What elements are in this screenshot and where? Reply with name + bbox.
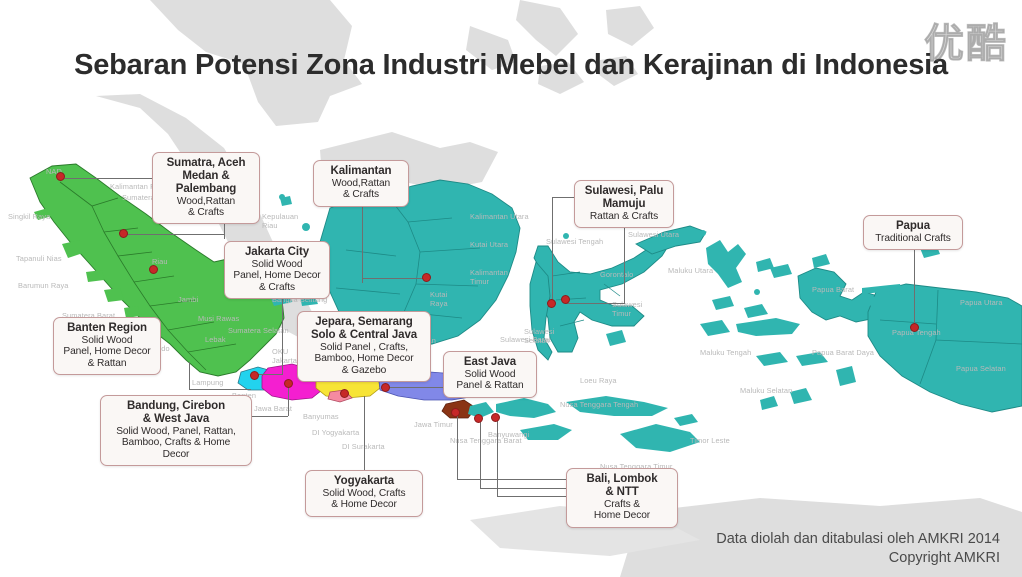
callout-jakarta[interactable]: Jakarta CitySolid WoodPanel, Home Decor&… <box>224 241 330 299</box>
footer-credit: Data diolah dan ditabulasi oleh AMKRI 20… <box>716 530 1000 569</box>
island-seram <box>736 318 800 336</box>
marker-surabaya-east-java[interactable] <box>381 383 390 392</box>
province-label: Lebak <box>205 335 226 344</box>
marker-palu[interactable] <box>561 295 570 304</box>
callout-detail-line: & Crafts <box>161 207 251 218</box>
island-halmahera[interactable] <box>706 240 746 288</box>
island-tanimbar <box>790 388 812 404</box>
province-label: OKU Jakarta <box>272 347 297 365</box>
leader-papua-v <box>914 250 915 328</box>
province-label: Timor Leste <box>690 436 730 445</box>
province-label: Sulawesi Selatan <box>524 327 554 345</box>
province-label: Kalimantan Utara <box>470 212 529 221</box>
province-label: Maluku Utara <box>668 266 713 275</box>
province-label: Papua Barat <box>812 285 854 294</box>
callout-papua[interactable]: PapuaTraditional Crafts <box>863 215 963 250</box>
callout-title-line: Banten Region <box>62 322 152 335</box>
province-label: Tapanuli Nias <box>16 254 62 263</box>
province-label: Jawa Barat <box>254 404 292 413</box>
leader-westjava-v <box>288 386 289 416</box>
callout-title-line: Mamuju <box>583 198 665 211</box>
callout-detail-line: & Crafts <box>322 189 400 200</box>
callout-title-line: Papua <box>872 220 954 233</box>
callout-title-line: Solo & Central Java <box>306 329 422 342</box>
callout-detail-line: Solid Wood <box>62 335 152 346</box>
leader-banten-v <box>189 362 190 390</box>
island-kei <box>760 396 778 410</box>
leader-bali-v2 <box>480 420 481 489</box>
callout-detail-line: Rattan & Crafts <box>583 211 665 222</box>
leader-bali-h3 <box>497 496 566 497</box>
province-label: Maluku Selatan <box>740 386 792 395</box>
callout-detail-line: & Home Decor <box>314 499 414 510</box>
callout-detail-line: & Rattan <box>62 358 152 369</box>
leader-bali-h2 <box>480 488 566 489</box>
callout-bali-ntt[interactable]: Bali, Lombok& NTTCrafts &Home Decor <box>566 468 678 528</box>
province-label: Barumun Raya <box>18 281 69 290</box>
callout-title-line: Bandung, Cirebon <box>109 400 243 413</box>
leader-kalimantan-v <box>362 203 363 283</box>
leader-sumatra-h2 <box>124 234 224 235</box>
province-label: Jambi <box>178 295 198 304</box>
philippines-gray-2 <box>606 6 654 46</box>
callout-detail-line: Panel & Rattan <box>452 380 528 391</box>
province-label: Kepulauan Riau <box>262 212 298 230</box>
infographic-map-slide: NADSingkil RayaTapanuli NiasBarumun Raya… <box>0 0 1022 577</box>
leader-yogyakarta-v <box>364 396 365 470</box>
province-label: Gorontalo <box>600 270 633 279</box>
marker-bandung-west-java[interactable] <box>284 379 293 388</box>
island-sumbawa[interactable] <box>496 398 556 418</box>
province-label: Kutai Utara <box>470 240 508 249</box>
island-buton <box>606 330 626 346</box>
leader-jakarta-h <box>256 374 282 375</box>
callout-title-line: Jakarta City <box>233 246 321 259</box>
island-maluku-1 <box>712 296 734 310</box>
province-label: Sulawesi Tengah <box>546 237 603 246</box>
island-alor <box>674 414 698 426</box>
callout-title-line: Bali, Lombok <box>575 473 669 486</box>
youku-watermark: 优酷 <box>924 11 1008 69</box>
footer-line-2: Copyright AMKRI <box>716 549 1000 569</box>
callout-detail-line: Solid Wood, Panel, Rattan, <box>109 426 243 437</box>
island-papua-small-2 <box>812 254 830 268</box>
island-aru <box>836 366 856 386</box>
callout-kalimantan[interactable]: KalimantanWood,Rattan& Crafts <box>313 160 409 207</box>
callout-detail-line: Panel, Home Decor <box>62 346 152 357</box>
marker-kalimantan-banjarmasin[interactable] <box>422 273 431 282</box>
callout-detail-line: Bamboo, Home Decor <box>306 353 422 364</box>
callout-detail-line: Bamboo, Crafts & Home Decor <box>109 437 243 460</box>
callout-sumatra[interactable]: Sumatra, AcehMedan & PalembangWood,Ratta… <box>152 152 260 224</box>
philippines-gray-1 <box>516 0 578 56</box>
marker-yogyakarta[interactable] <box>340 389 349 398</box>
callout-detail-line: Traditional Crafts <box>872 233 954 244</box>
island-maluku-2 <box>744 304 768 318</box>
callout-detail-line: Panel, Home Decor <box>233 270 321 281</box>
callout-banten[interactable]: Banten RegionSolid WoodPanel, Home Decor… <box>53 317 161 375</box>
callout-east-java[interactable]: East JavaSolid WoodPanel & Rattan <box>443 351 537 398</box>
callout-detail-line: Wood,Rattan <box>161 196 251 207</box>
leader-sulawesi-v <box>624 226 625 304</box>
leader-bali-v3 <box>497 419 498 497</box>
leader-bali-v1 <box>457 414 458 480</box>
province-label: Maluku Tengah <box>700 348 751 357</box>
province-label: Papua Selatan <box>956 364 1006 373</box>
marker-papua-jayapura[interactable] <box>910 323 919 332</box>
callout-title-line: Kalimantan <box>322 165 400 178</box>
leader-kalimantan-h <box>362 278 428 279</box>
province-label: Sulawesi Utara <box>628 230 679 239</box>
leader-jakarta-v <box>282 289 283 375</box>
province-label: Nusa Tenggara Barat <box>450 436 522 445</box>
province-label: Kutai Raya <box>430 290 448 308</box>
callout-detail-line: Solid Panel , Crafts, <box>306 342 422 353</box>
province-label: Loeu Raya <box>580 376 617 385</box>
callout-detail-line: Crafts & <box>575 499 669 510</box>
callout-title-line: & NTT <box>575 486 669 499</box>
island-timor[interactable] <box>620 424 700 452</box>
indonesia-map <box>0 0 1022 577</box>
province-label: Singkil Raya <box>8 212 50 221</box>
leader-bali-h1 <box>457 479 566 480</box>
callout-sulawesi[interactable]: Sulawesi, PaluMamujuRattan & Crafts <box>574 180 674 228</box>
leader-eastjava-h <box>388 387 444 388</box>
marker-palembang[interactable] <box>149 265 158 274</box>
callout-title-line: Sumatra, Aceh <box>161 157 251 170</box>
callout-detail-line: Solid Wood <box>452 369 528 380</box>
island-mentawai-1 <box>86 270 104 282</box>
province-label: Lampung <box>192 378 224 387</box>
marker-mamuju[interactable] <box>547 299 556 308</box>
island-buru <box>700 320 730 336</box>
callout-detail-line: Solid Wood <box>233 259 321 270</box>
province-label: DI Yogyakarta <box>312 428 359 437</box>
marker-ntt-kupang[interactable] <box>491 413 500 422</box>
marker-jakarta[interactable] <box>250 371 259 380</box>
callout-title-line: Medan & Palembang <box>161 170 251 196</box>
marker-bali[interactable] <box>451 408 460 417</box>
province-label: Musi Rawas <box>198 314 239 323</box>
callout-detail-line: Solid Wood, Crafts <box>314 488 414 499</box>
callout-west-java[interactable]: Bandung, Cirebon& West JavaSolid Wood, P… <box>100 395 252 466</box>
leader-sulawesi-h <box>566 303 624 304</box>
leader-banten-h <box>189 389 251 390</box>
province-label: Jawa Timur <box>414 420 453 429</box>
province-label: Nusa Tenggara Tengah <box>560 400 638 409</box>
callout-detail-line: & Gazebo <box>306 365 422 376</box>
callout-title-line: Sulawesi, Palu <box>583 185 665 198</box>
marker-medan[interactable] <box>119 229 128 238</box>
province-label: Papua Barat Daya <box>812 348 874 357</box>
callout-detail-line: Home Decor <box>575 510 669 521</box>
leader-sulawesi-h2 <box>552 197 574 198</box>
province-label: Sumatera Selatan <box>228 326 289 335</box>
footer-line-1: Data diolah dan ditabulasi oleh AMKRI 20… <box>716 530 1000 550</box>
marker-aceh-banda-aceh[interactable] <box>56 172 65 181</box>
callout-title-line: Jepara, Semarang <box>306 316 422 329</box>
callout-central-java[interactable]: Jepara, SemarangSolo & Central JavaSolid… <box>297 311 431 382</box>
marker-lombok[interactable] <box>474 414 483 423</box>
callout-detail-line: & Crafts <box>233 282 321 293</box>
province-label: Papua Utara <box>960 298 1003 307</box>
callout-detail-line: Wood,Rattan <box>322 178 400 189</box>
callout-title-line: East Java <box>452 356 528 369</box>
callout-title-line: Yogyakarta <box>314 475 414 488</box>
province-label: Kalimantan Timur <box>470 268 508 286</box>
leader-westjava-h <box>252 416 288 417</box>
island-papua-small-1 <box>770 264 792 278</box>
leader-sulawesi-v2 <box>552 197 553 303</box>
callout-title-line: & West Java <box>109 413 243 426</box>
callout-yogyakarta[interactable]: YogyakartaSolid Wood, Crafts& Home Decor <box>305 470 423 517</box>
province-label: Banyumas <box>303 412 339 421</box>
island-maluku-3 <box>756 352 788 366</box>
page-title: Sebaran Potensi Zona Industri Mebel dan … <box>0 49 1022 82</box>
